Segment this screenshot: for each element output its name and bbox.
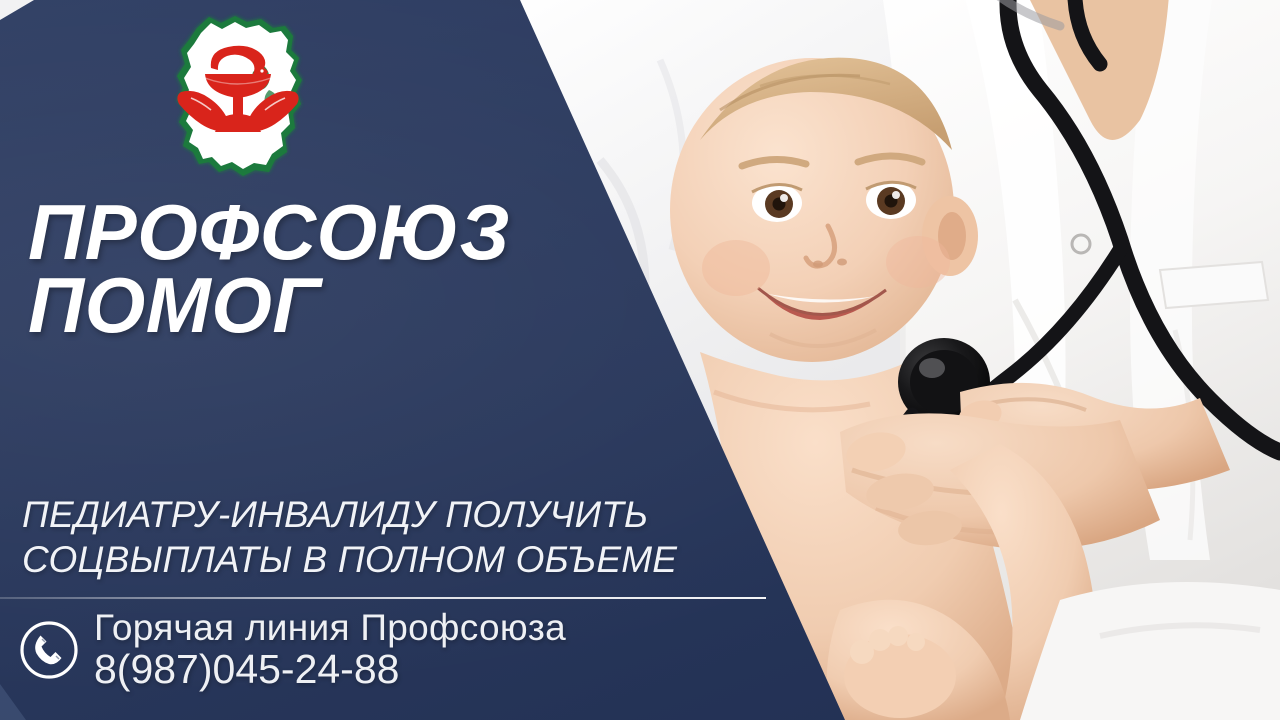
divider xyxy=(0,597,766,599)
hotline-label: Горячая линия Профсоюза xyxy=(94,608,566,648)
phone-handset-in-circle-icon xyxy=(18,619,80,681)
trade-union-region-map-logo xyxy=(165,6,315,181)
headline-line-2: ПОМОГ xyxy=(28,269,628,342)
subtitle: ПЕДИАТРУ-ИНВАЛИДУ ПОЛУЧИТЬ СОЦВЫПЛАТЫ В … xyxy=(22,492,742,582)
hotline-text: Горячая линия Профсоюза 8(987)045-24-88 xyxy=(94,608,566,691)
hotline-phone-number[interactable]: 8(987)045-24-88 xyxy=(94,648,566,692)
page-title: ПРОФСОЮЗ ПОМОГ xyxy=(28,196,628,343)
headline-line-1: ПРОФСОЮЗ xyxy=(28,196,628,269)
subtitle-line-2: СОЦВЫПЛАТЫ В ПОЛНОМ ОБЪЕМЕ xyxy=(22,537,742,582)
poster-canvas: ПРОФСОЮЗ ПОМОГ ПЕДИАТРУ-ИНВАЛИДУ ПОЛУЧИТ… xyxy=(0,0,1280,720)
subtitle-line-1: ПЕДИАТРУ-ИНВАЛИДУ ПОЛУЧИТЬ xyxy=(22,492,742,537)
hotline-block: Горячая линия Профсоюза 8(987)045-24-88 xyxy=(18,608,566,691)
